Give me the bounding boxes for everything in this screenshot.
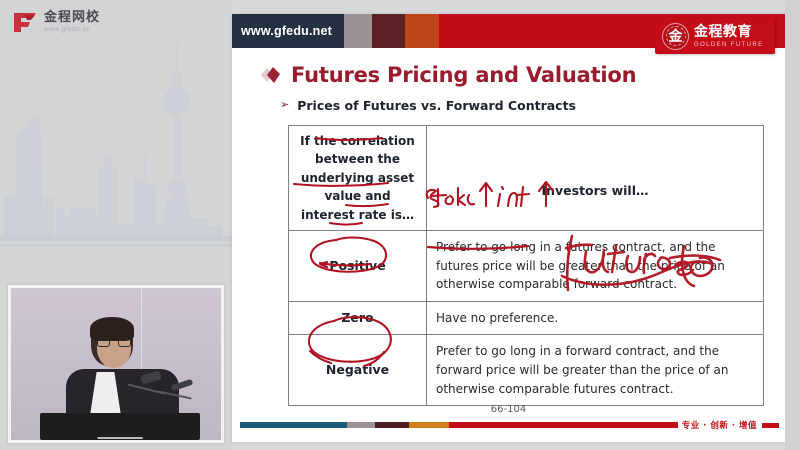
row-label-zero: Zero xyxy=(289,301,427,335)
row-label-negative: Negative xyxy=(289,335,427,406)
condition-header-text: If the correlation between the underlyin… xyxy=(300,134,415,222)
footer-block-gray xyxy=(347,422,375,428)
footer-block-red xyxy=(449,422,678,428)
right-gutter xyxy=(785,0,800,450)
diamond-bullet-icon xyxy=(256,64,282,86)
glasses-icon xyxy=(97,338,131,347)
brand-name-cn: 金程网校 xyxy=(44,11,100,24)
left-panel: 金程网校 www.gfedu.cn xyxy=(0,0,232,450)
header-url-label: www.gfedu.net xyxy=(232,14,344,48)
comparison-table-wrapper: If the correlation between the underlyin… xyxy=(288,125,763,406)
row-label-positive: Positive xyxy=(289,230,427,301)
header-color-block-orange xyxy=(405,14,439,48)
brand-logo: 金程网校 www.gfedu.cn xyxy=(12,10,100,34)
row-description: Have no preference. xyxy=(436,311,558,325)
subtitle: Prices of Futures vs. Forward Contracts xyxy=(297,98,576,113)
logo-name-en: GOLDEN FUTURE xyxy=(694,42,764,48)
subtitle-row: ➢ Prices of Futures vs. Forward Contract… xyxy=(280,98,785,113)
screen: 金程网校 www.gfedu.cn xyxy=(0,0,800,450)
footer-block-orange xyxy=(409,422,449,428)
row-description: Prefer to go long in a futures contract,… xyxy=(436,240,725,291)
shanghai-skyline-watermark xyxy=(0,36,232,282)
investors-header-text: Investors will… xyxy=(436,157,754,198)
table-header-row: If the correlation between the underlyin… xyxy=(289,126,764,231)
table-header-investors: Investors will… xyxy=(427,126,764,231)
speaker-video-tile[interactable] xyxy=(8,285,224,443)
golden-future-logo: 金 金程教育 GOLDEN FUTURE xyxy=(655,18,775,54)
row-text-positive: Prefer to go long in a futures contract,… xyxy=(427,230,764,301)
header-color-block-maroon xyxy=(372,14,405,48)
table-header-condition: If the correlation between the underlyin… xyxy=(289,126,427,231)
arrow-bullet-icon: ➢ xyxy=(280,100,289,111)
futures-forward-table: If the correlation between the underlyin… xyxy=(288,125,764,406)
table-row: Negative Prefer to go long in a forward … xyxy=(289,335,764,406)
page-title-row: Futures Pricing and Valuation xyxy=(256,63,785,87)
page-title: Futures Pricing and Valuation xyxy=(291,63,636,87)
seal-icon: 金 xyxy=(662,23,689,50)
row-text-zero: Have no preference. xyxy=(427,301,764,335)
table-row: Positive Prefer to go long in a futures … xyxy=(289,230,764,301)
footer-color-bar xyxy=(240,422,678,428)
footer-block-maroon xyxy=(375,422,409,428)
speaker-video xyxy=(11,288,221,440)
label-text: Positive xyxy=(329,258,385,273)
slide-footer: 66-104 专业 · 创新 · 增值 xyxy=(232,402,785,442)
slide-header: www.gfedu.net 金 金程教育 GOLDEN FUTURE xyxy=(232,14,785,48)
podium xyxy=(40,413,200,440)
header-color-block-gray xyxy=(344,14,372,48)
logo-name-cn: 金程教育 xyxy=(694,25,764,39)
page-number: 66-104 xyxy=(232,404,785,415)
slide: www.gfedu.net 金 金程教育 GOLDEN FUTURE Futur… xyxy=(232,14,785,442)
footer-dash xyxy=(762,423,779,428)
row-text-negative: Prefer to go long in a forward contract,… xyxy=(427,335,764,406)
footer-slogan: 专业 · 创新 · 增值 xyxy=(682,419,757,431)
brand-url: www.gfedu.cn xyxy=(44,27,100,34)
gfedu-logo-icon xyxy=(12,10,38,34)
label-text: Negative xyxy=(326,362,389,377)
footer-block-navy xyxy=(240,422,347,428)
table-row: Zero Have no preference. xyxy=(289,301,764,335)
podium-nameplate xyxy=(98,437,143,439)
label-text: Zero xyxy=(341,310,373,325)
row-description: Prefer to go long in a forward contract,… xyxy=(436,344,728,395)
